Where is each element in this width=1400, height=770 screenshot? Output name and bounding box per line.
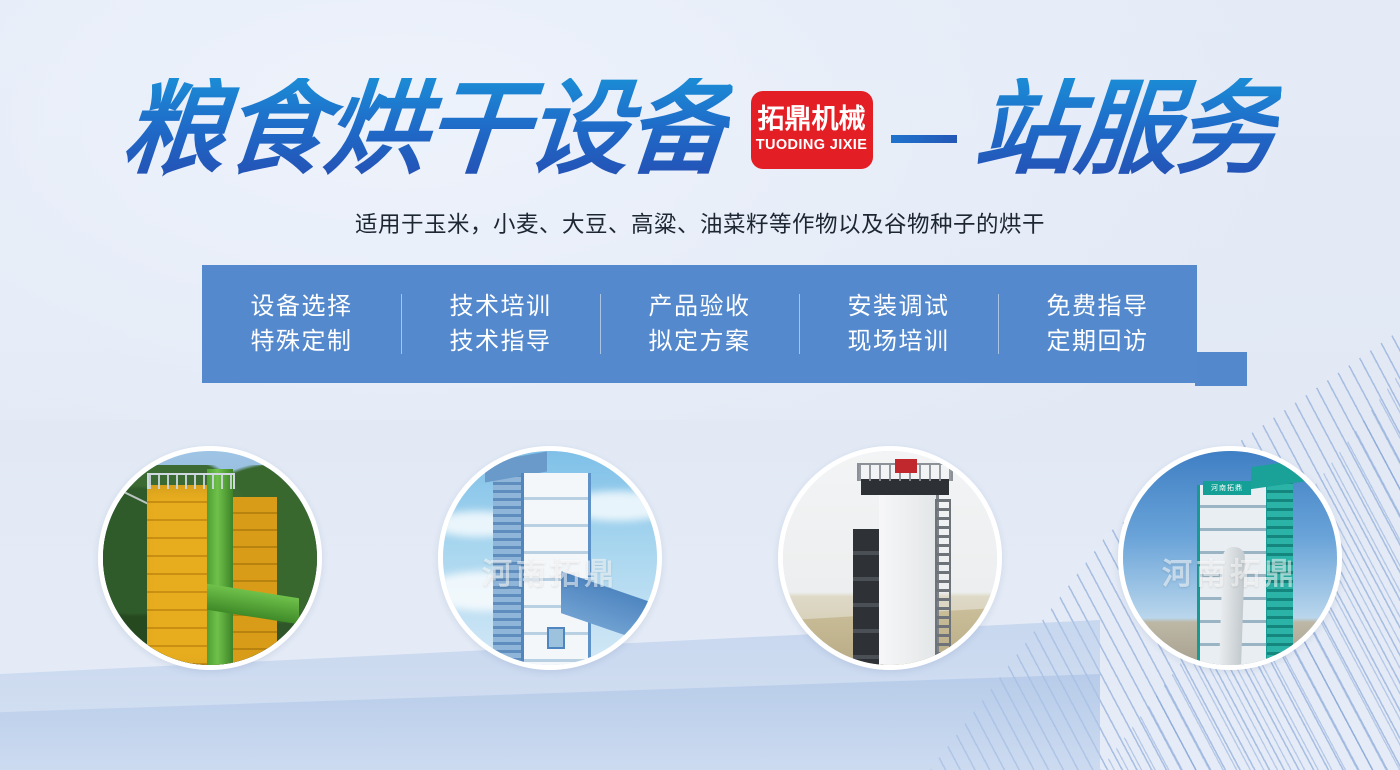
teal-elevator-leg	[1267, 475, 1293, 665]
top-railing	[147, 473, 235, 489]
photo-2-scene: 河南拓鼎	[443, 451, 657, 665]
green-elevator-column	[207, 469, 233, 665]
red-equipment-marker	[895, 459, 917, 473]
access-ladder	[935, 499, 951, 665]
photo-3-scene	[783, 451, 997, 665]
photo-1-scene	[103, 451, 317, 665]
elevator-head	[1251, 459, 1309, 489]
photo-4-company-sign: 河南拓鼎	[1203, 481, 1251, 495]
product-photo-1	[98, 446, 322, 670]
grey-dryer-body	[879, 491, 939, 665]
product-photo-3	[778, 446, 1002, 670]
photo-4-scene: 河南拓鼎 河南拓鼎	[1123, 451, 1337, 665]
product-photo-row: 河南拓鼎 河南拓鼎 河南拓鼎	[0, 0, 1400, 770]
control-panel	[547, 627, 565, 649]
dryer-top-cap	[861, 479, 949, 495]
product-photo-4: 河南拓鼎 河南拓鼎	[1118, 446, 1342, 670]
promo-banner: 粮食烘干设备 拓鼎机械 TUODING JIXIE 站服务 适用于玉米，小麦、大…	[0, 0, 1400, 770]
blue-elevator-leg	[493, 461, 523, 665]
exhaust-stack	[1219, 547, 1245, 665]
product-photo-2: 河南拓鼎	[438, 446, 662, 670]
yellow-dryer-body-side	[229, 497, 277, 665]
